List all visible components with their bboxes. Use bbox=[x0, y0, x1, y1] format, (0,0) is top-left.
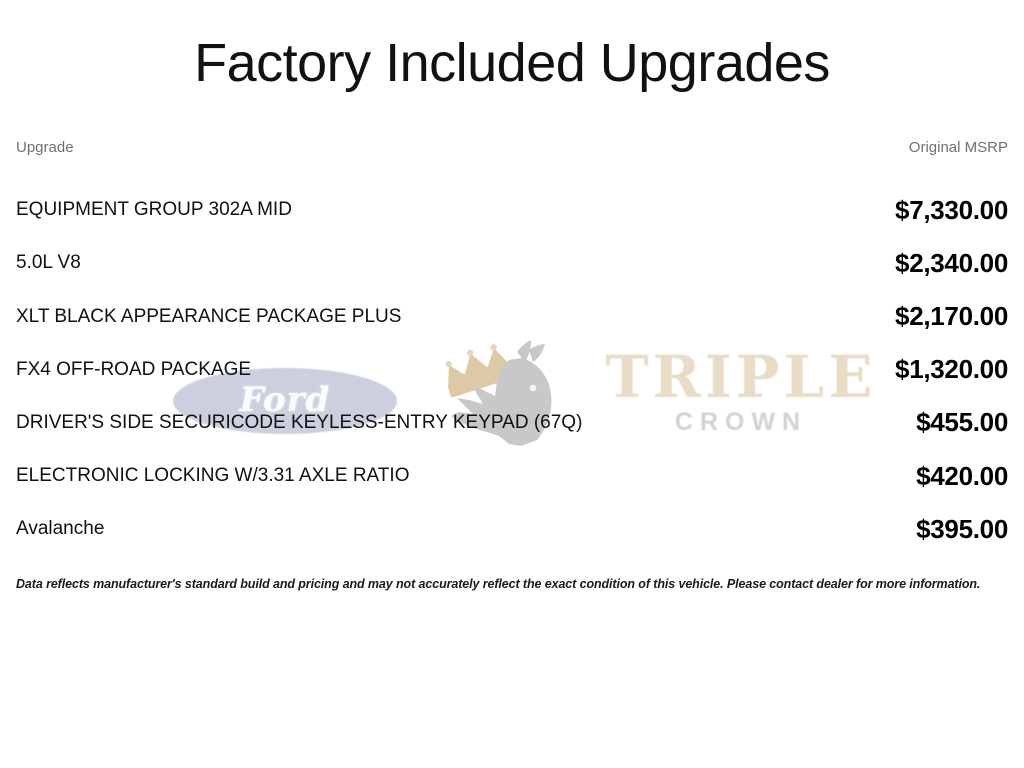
table-row: DRIVER'S SIDE SECURICODE KEYLESS-ENTRY K… bbox=[16, 396, 1008, 449]
column-header-msrp: Original MSRP bbox=[909, 139, 1008, 157]
page-content: Factory Included Upgrades Upgrade Origin… bbox=[0, 0, 1024, 593]
upgrade-price: $455.00 bbox=[916, 407, 1008, 438]
upgrade-price: $2,340.00 bbox=[895, 248, 1008, 279]
table-row: FX4 OFF-ROAD PACKAGE $1,320.00 bbox=[16, 343, 1008, 396]
table-row: EQUIPMENT GROUP 302A MID $7,330.00 bbox=[16, 184, 1008, 237]
page-title: Factory Included Upgrades bbox=[16, 0, 1008, 96]
upgrade-name: ELECTRONIC LOCKING W/3.31 AXLE RATIO bbox=[16, 463, 636, 489]
upgrade-price: $395.00 bbox=[916, 514, 1008, 545]
table-row: XLT BLACK APPEARANCE PACKAGE PLUS $2,170… bbox=[16, 290, 1008, 343]
table-row: 5.0L V8 $2,340.00 bbox=[16, 237, 1008, 290]
upgrade-price: $420.00 bbox=[916, 461, 1008, 492]
column-header-upgrade: Upgrade bbox=[16, 139, 74, 157]
table-row: Avalanche $395.00 bbox=[16, 503, 1008, 556]
upgrade-price: $7,330.00 bbox=[895, 195, 1008, 226]
disclaimer-text: Data reflects manufacturer's standard bu… bbox=[16, 576, 1008, 593]
upgrade-name: FX4 OFF-ROAD PACKAGE bbox=[16, 357, 636, 383]
upgrade-name: DRIVER'S SIDE SECURICODE KEYLESS-ENTRY K… bbox=[16, 410, 636, 436]
upgrade-price: $2,170.00 bbox=[895, 301, 1008, 332]
upgrades-table: Upgrade Original MSRP EQUIPMENT GROUP 30… bbox=[16, 134, 1008, 556]
upgrade-name: Avalanche bbox=[16, 516, 636, 542]
upgrade-price: $1,320.00 bbox=[895, 354, 1008, 385]
upgrade-name: 5.0L V8 bbox=[16, 250, 636, 276]
table-header-row: Upgrade Original MSRP bbox=[16, 134, 1008, 162]
table-row: ELECTRONIC LOCKING W/3.31 AXLE RATIO $42… bbox=[16, 450, 1008, 503]
upgrade-name: XLT BLACK APPEARANCE PACKAGE PLUS bbox=[16, 304, 636, 330]
upgrade-name: EQUIPMENT GROUP 302A MID bbox=[16, 197, 636, 223]
factory-upgrades-page: Ford TRIPLE bbox=[0, 0, 1024, 768]
